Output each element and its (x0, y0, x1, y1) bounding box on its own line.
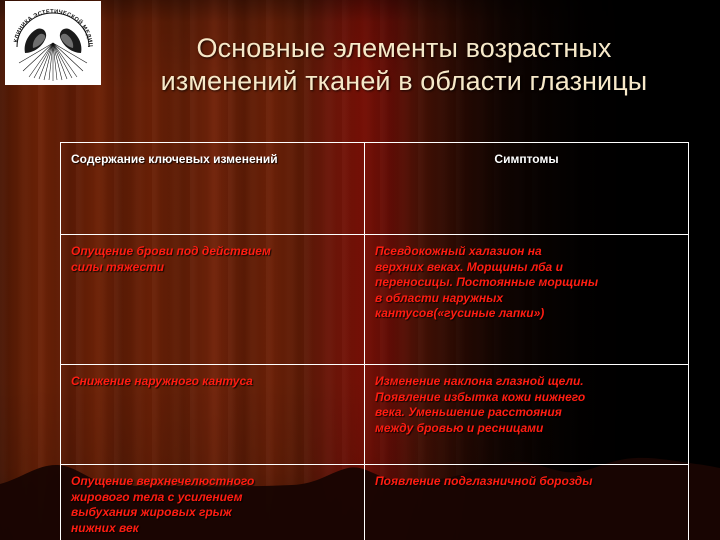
change-text-1: Опущение брови под действием силы тяжест… (71, 244, 354, 275)
clinic-emblem-icon: КЛИНИКА ЭСТЕТИЧЕСКОЙ МЕДИЦИНЫ (7, 3, 99, 83)
slide-canvas: КЛИНИКА ЭСТЕТИЧЕСКОЙ МЕДИЦИНЫ Основные э… (0, 0, 720, 540)
column-header-symptoms: Симптомы (375, 152, 678, 167)
page-title: Основные элементы возрастных изменений т… (104, 32, 704, 98)
table-row: Опущение брови под действием силы тяжест… (61, 235, 689, 365)
change-text-3: Опущение верхнечелюстного жирового тела … (71, 474, 354, 536)
age-changes-table: Содержание ключевых изменений Симптомы О… (60, 142, 689, 540)
symptom-text-1: Псевдокожный халазион на верхних веках. … (375, 244, 678, 322)
symptom-text-2: Изменение наклона глазной щели. Появлени… (375, 374, 678, 436)
svg-text:КЛИНИКА ЭСТЕТИЧЕСКОЙ МЕДИЦИНЫ: КЛИНИКА ЭСТЕТИЧЕСКОЙ МЕДИЦИНЫ (7, 3, 93, 48)
table-cell-symptom-3: Появление подглазничной борозды (365, 465, 689, 540)
table-cell-change-3: Опущение верхнечелюстного жирового тела … (61, 465, 365, 540)
table-header-cell-symptoms: Симптомы (365, 143, 689, 235)
table-cell-change-2: Снижение наружного кантуса (61, 365, 365, 465)
change-text-2: Снижение наружного кантуса (71, 374, 354, 390)
clinic-logo: КЛИНИКА ЭСТЕТИЧЕСКОЙ МЕДИЦИНЫ (5, 1, 101, 85)
table-cell-change-1: Опущение брови под действием силы тяжест… (61, 235, 365, 365)
column-header-changes: Содержание ключевых изменений (71, 152, 354, 167)
symptom-text-3: Появление подглазничной борозды (375, 474, 678, 490)
table-header-cell-changes: Содержание ключевых изменений (61, 143, 365, 235)
table-cell-symptom-1: Псевдокожный халазион на верхних веках. … (365, 235, 689, 365)
table-header-row: Содержание ключевых изменений Симптомы (61, 143, 689, 235)
table-row: Снижение наружного кантуса Изменение нак… (61, 365, 689, 465)
table-cell-symptom-2: Изменение наклона глазной щели. Появлени… (365, 365, 689, 465)
table-row: Опущение верхнечелюстного жирового тела … (61, 465, 689, 540)
